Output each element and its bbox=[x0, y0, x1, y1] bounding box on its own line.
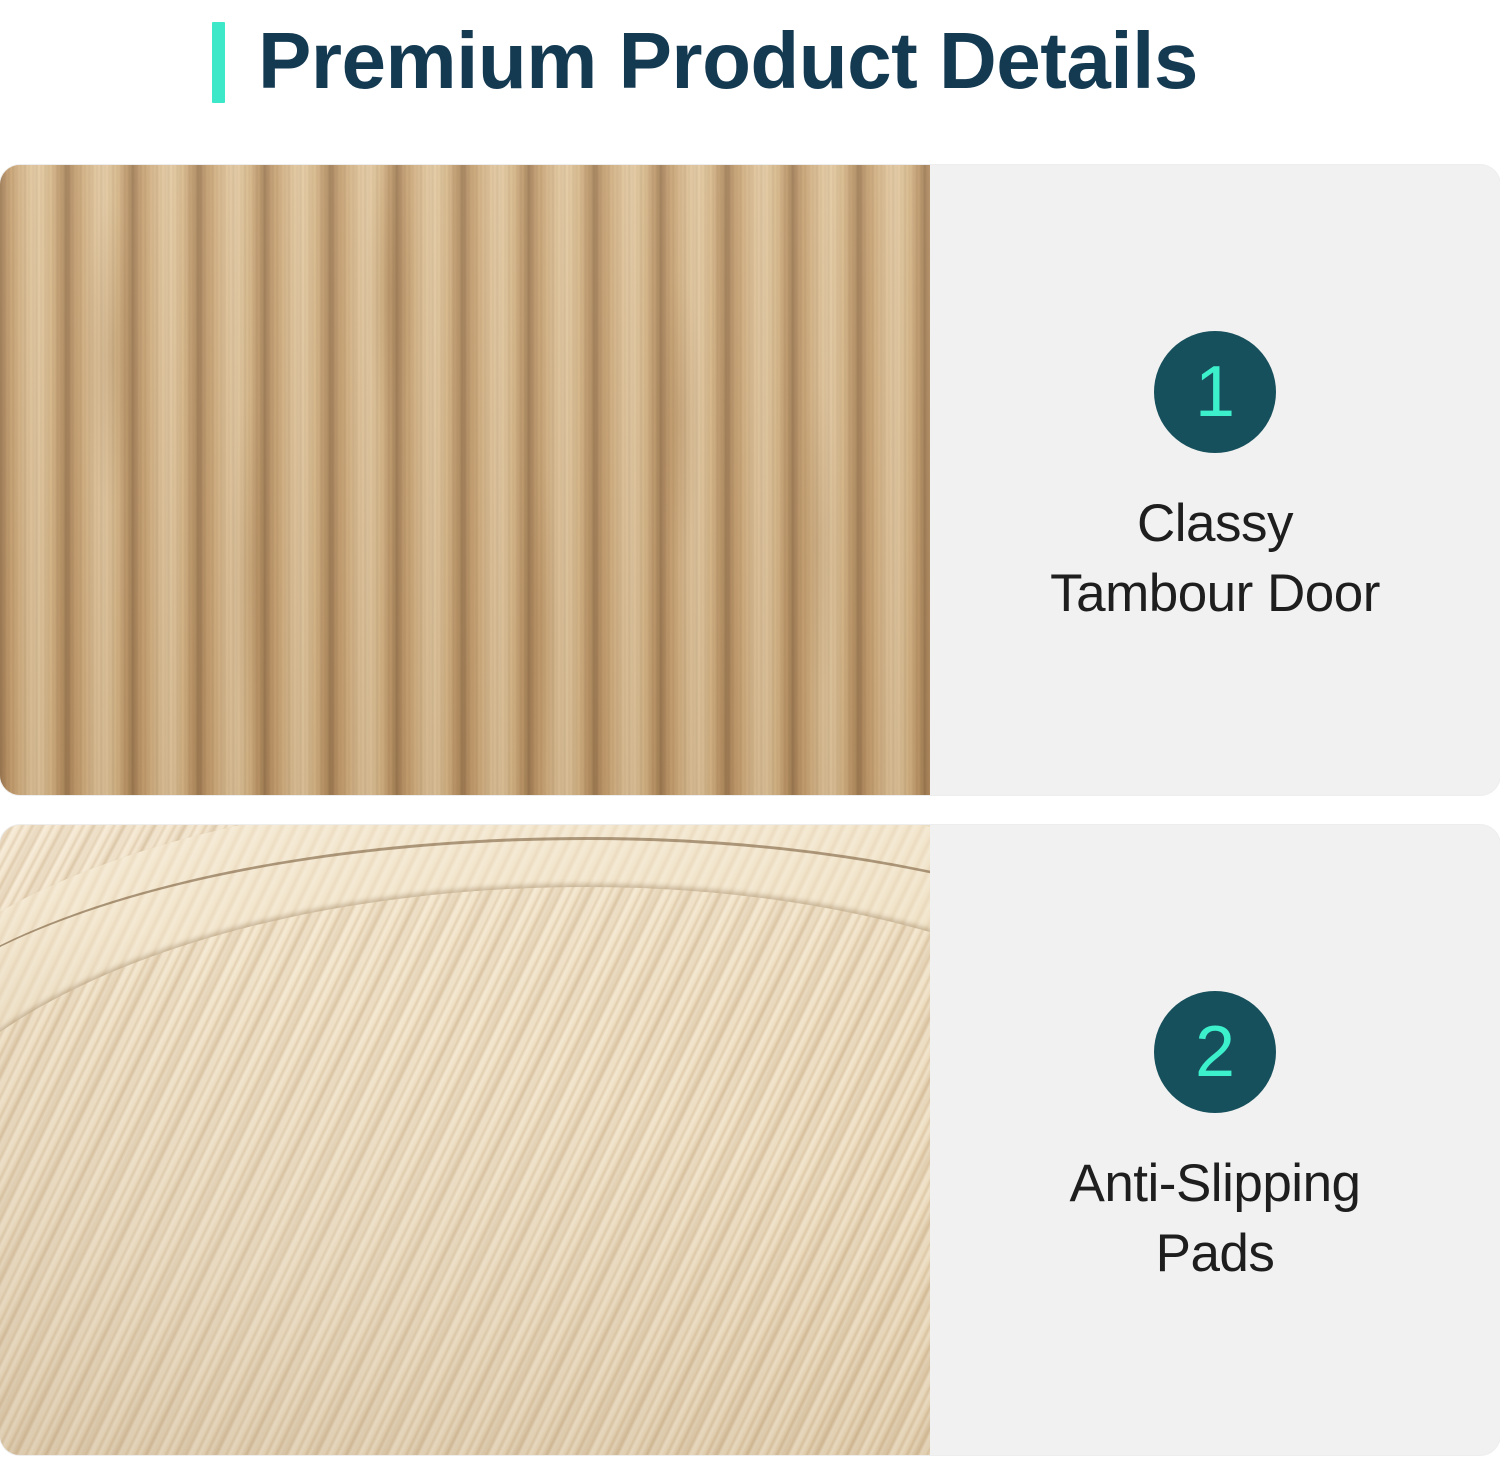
page-title: Premium Product Details bbox=[258, 13, 1198, 109]
detail-card-1: 1 Classy Tambour Door bbox=[0, 165, 1500, 795]
caption-1-line-1: Classy bbox=[1050, 489, 1380, 559]
caption-1: Classy Tambour Door bbox=[1050, 489, 1380, 629]
number-badge-1: 1 bbox=[1154, 331, 1276, 453]
detail-card-2: 2 Anti-Slipping Pads bbox=[0, 825, 1500, 1455]
wood-grain-overlay bbox=[0, 165, 930, 795]
drawer-seam-line bbox=[0, 837, 930, 1455]
product-details-infographic: Premium Product Details 1 Classy Tambour… bbox=[0, 0, 1500, 1465]
accent-bar bbox=[212, 22, 225, 103]
drawer-knob-photo bbox=[0, 825, 930, 1455]
caption-2-line-1: Anti-Slipping bbox=[1069, 1149, 1360, 1219]
tambour-door-photo bbox=[0, 165, 930, 795]
detail-info-1: 1 Classy Tambour Door bbox=[930, 165, 1500, 795]
caption-1-line-2: Tambour Door bbox=[1050, 559, 1380, 629]
detail-info-2: 2 Anti-Slipping Pads bbox=[930, 825, 1500, 1455]
header: Premium Product Details bbox=[0, 0, 1500, 150]
caption-2-line-2: Pads bbox=[1069, 1219, 1360, 1289]
number-badge-2: 2 bbox=[1154, 991, 1276, 1113]
caption-2: Anti-Slipping Pads bbox=[1069, 1149, 1360, 1289]
